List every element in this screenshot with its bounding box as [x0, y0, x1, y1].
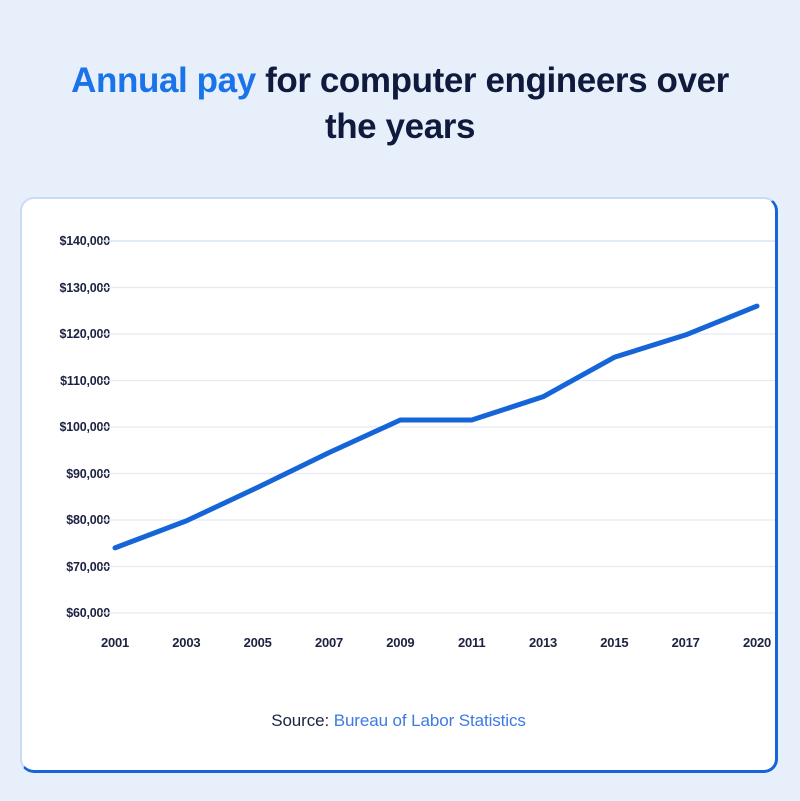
x-tick-label: 2005 — [244, 635, 272, 650]
source-link[interactable]: Bureau of Labor Statistics — [334, 711, 526, 730]
x-tick-label: 2015 — [600, 635, 628, 650]
gridlines — [102, 241, 777, 613]
chart-card: $140,000$130,000$120,000$110,000$100,000… — [20, 197, 778, 773]
source-prefix: Source: — [271, 711, 334, 730]
x-tick-label: 2003 — [172, 635, 200, 650]
page-title: Annual pay for computer engineers over t… — [50, 0, 750, 150]
source-note: Source: Bureau of Labor Statistics — [22, 711, 775, 731]
x-tick-label: 2009 — [386, 635, 414, 650]
page-title-accent: Annual pay — [71, 61, 256, 100]
x-tick-label: 2013 — [529, 635, 557, 650]
x-tick-label: 2017 — [672, 635, 700, 650]
page-title-rest: for computer engineers over the years — [256, 61, 729, 146]
x-tick-label: 2020 — [743, 635, 771, 650]
line-chart: $140,000$130,000$120,000$110,000$100,000… — [22, 199, 775, 770]
x-tick-label: 2011 — [458, 635, 485, 650]
x-tick-label: 2007 — [315, 635, 343, 650]
plot-canvas — [22, 199, 778, 773]
x-tick-label: 2001 — [101, 635, 129, 650]
